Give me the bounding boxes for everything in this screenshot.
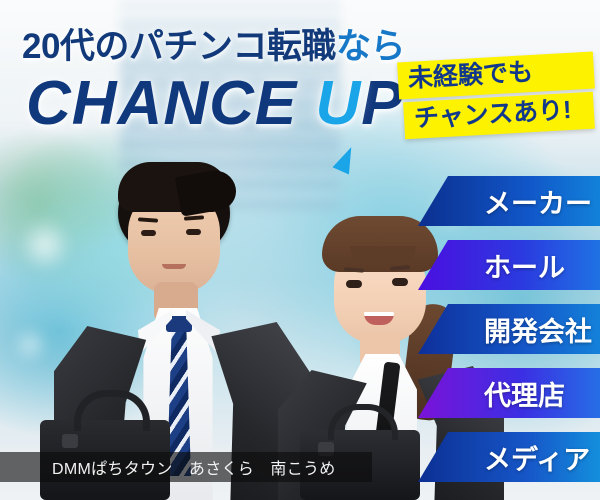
headline-suffix: なら: [336, 27, 405, 66]
logo-word-chance: CHANCE: [26, 69, 297, 138]
credit-text: DMMぱちタウン あさくら 南こうめ: [0, 455, 336, 479]
category-button-maker[interactable]: メーカー: [418, 176, 600, 226]
experience-badge: 未経験でも チャンスあり!: [398, 57, 594, 134]
category-button-media[interactable]: メディア: [418, 432, 600, 482]
logo-letter-u: U: [315, 68, 361, 139]
chance-up-logo: CHANCE UP: [26, 68, 404, 139]
banner-headline: 20代のパチンコ転職なら: [22, 18, 405, 69]
promo-banner: 20代のパチンコ転職なら CHANCE UP 未経験でも チャンスあり! メーカ…: [0, 0, 600, 500]
badge-line-2: チャンスあり!: [403, 92, 595, 140]
headline-main: 20代のパチンコ転職: [22, 27, 336, 66]
category-button-agency[interactable]: 代理店: [418, 368, 600, 418]
category-button-list: メーカー ホール 開発会社 代理店 メディア: [0, 176, 600, 496]
category-button-hall[interactable]: ホール: [418, 240, 600, 290]
credit-bar: DMMぱちタウン あさくら 南こうめ: [0, 452, 372, 482]
category-button-developer[interactable]: 開発会社: [418, 304, 600, 354]
